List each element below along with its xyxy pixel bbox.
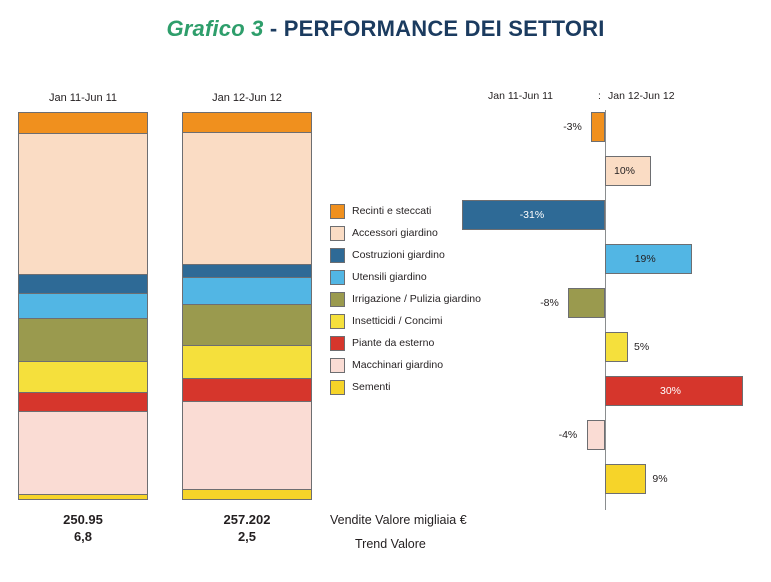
legend-label: Sementi xyxy=(352,381,391,393)
stack-segment xyxy=(183,133,311,264)
legend-label: Utensili giardino xyxy=(352,271,427,283)
stack-segment xyxy=(19,134,147,275)
legend-swatch-icon xyxy=(330,204,345,219)
stack-segment xyxy=(183,402,311,491)
stack-segment xyxy=(183,305,311,346)
stack-segment xyxy=(19,393,147,412)
stack-trend-1: 6,8 xyxy=(18,529,148,544)
legend-swatch-icon xyxy=(330,336,345,351)
legend-swatch-icon xyxy=(330,270,345,285)
trend-header-right: Jan 12-Jun 12 xyxy=(608,90,675,102)
stack-segment xyxy=(19,113,147,134)
legend-swatch-icon xyxy=(330,380,345,395)
trend-bar-label: 5% xyxy=(634,332,649,362)
stack-segment xyxy=(19,275,147,294)
trend-bar-label: 19% xyxy=(635,244,656,274)
legend-swatch-icon xyxy=(330,226,345,241)
stack-column-label-2: Jan 12-Jun 12 xyxy=(182,92,312,104)
legend-swatch-icon xyxy=(330,248,345,263)
trend-bar-label: -31% xyxy=(520,200,545,230)
page-title-main: PERFORMANCE DEI SETTORI xyxy=(284,16,605,41)
stack-segment xyxy=(183,278,311,305)
stack-segment xyxy=(19,294,147,319)
legend-swatch-icon xyxy=(330,358,345,373)
trend-bar-label: -3% xyxy=(563,112,582,142)
stack-total-1: 250.95 xyxy=(18,512,148,527)
legend-label: Accessori giardino xyxy=(352,227,438,239)
caption-value-trend: Trend Valore xyxy=(355,537,426,551)
stack-trend-2: 2,5 xyxy=(182,529,312,544)
stack-column-label-1: Jan 11-Jun 11 xyxy=(18,92,148,104)
trend-bar-label: 10% xyxy=(614,156,635,186)
trend-header-separator: : xyxy=(598,90,601,102)
stack-segment xyxy=(19,362,147,393)
trend-bar-label: -8% xyxy=(540,288,559,318)
legend-label: Macchinari giardino xyxy=(352,359,443,371)
page-title: Grafico 3 - PERFORMANCE DEI SETTORI xyxy=(0,16,771,42)
stack-segment xyxy=(19,319,147,361)
trend-bar xyxy=(568,288,605,318)
trend-bar xyxy=(605,464,646,494)
legend-label: Insetticidi / Concimi xyxy=(352,315,442,327)
trend-bar-label: 30% xyxy=(660,376,681,406)
stack-segment xyxy=(19,412,147,495)
stack-segment xyxy=(183,113,311,133)
legend-swatch-icon xyxy=(330,292,345,307)
stack-segment xyxy=(183,346,311,379)
trend-bar-label: -4% xyxy=(559,420,578,450)
stack-total-2: 257.202 xyxy=(182,512,312,527)
stack-segment xyxy=(19,495,147,499)
stack-segment xyxy=(183,379,311,402)
stacked-bar-column-1 xyxy=(18,112,148,500)
trend-bar xyxy=(587,420,605,450)
trend-bar xyxy=(591,112,605,142)
legend-swatch-icon xyxy=(330,314,345,329)
stacked-bar-column-2 xyxy=(182,112,312,500)
legend-label: Recinti e steccati xyxy=(352,205,431,217)
stack-segment xyxy=(183,265,311,279)
legend-label: Piante da esterno xyxy=(352,337,434,349)
trend-bar-label: 9% xyxy=(652,464,667,494)
trend-header-left: Jan 11-Jun 11 xyxy=(488,90,553,102)
stack-segment xyxy=(183,490,311,498)
legend-label: Costruzioni giardino xyxy=(352,249,445,261)
caption-value-sales: Vendite Valore migliaia € xyxy=(330,513,467,527)
page-title-prefix: Grafico 3 xyxy=(166,16,263,41)
trend-bar xyxy=(605,332,628,362)
trend-chart: Jan 11-Jun 11 : Jan 12-Jun 12 -3%10%-31%… xyxy=(450,90,770,510)
page-title-dash: - xyxy=(264,16,284,41)
